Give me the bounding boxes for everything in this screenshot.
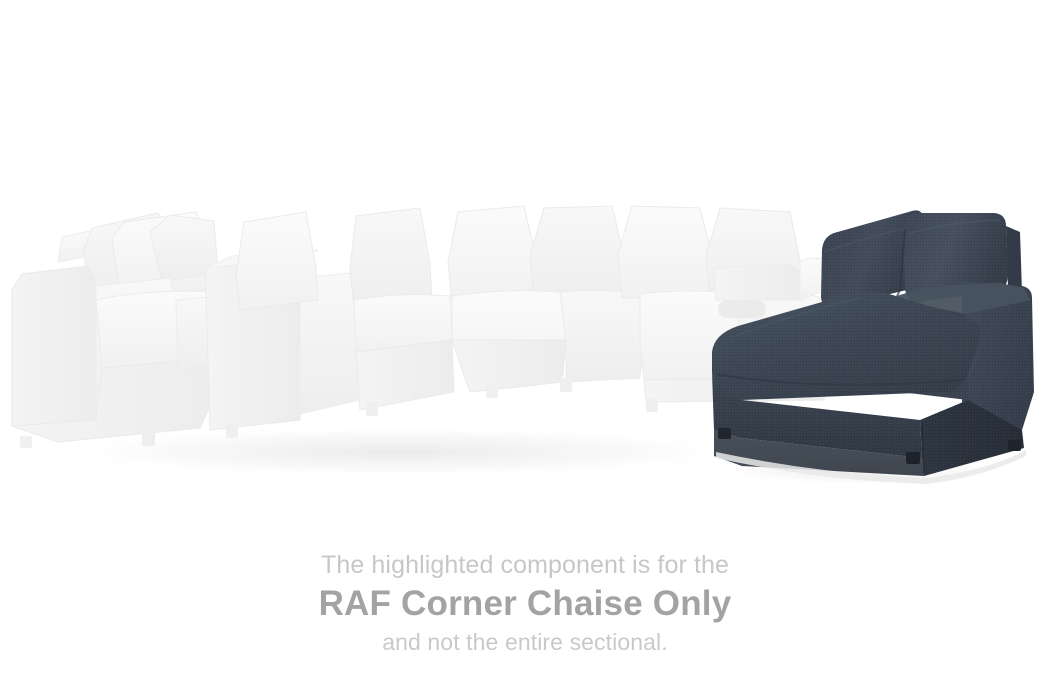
sectional-sofa-diagram [0, 0, 1050, 520]
chaise-back-rail [1006, 226, 1022, 292]
caption-line-intro: The highlighted component is for the [0, 548, 1050, 582]
caption-line-component-name: RAF Corner Chaise Only [0, 582, 1050, 626]
caption-block: The highlighted component is for the RAF… [0, 548, 1050, 658]
product-illustration [0, 0, 1050, 520]
ghost-corner-wedge [448, 206, 644, 398]
chaise-leg [718, 428, 731, 439]
chaise-leg [906, 452, 920, 464]
ghost-laf-loveseat [12, 212, 230, 448]
cupholder-icon [718, 300, 766, 318]
product-highlight-page: The highlighted component is for the RAF… [0, 0, 1050, 700]
chaise-leg [1008, 440, 1021, 451]
caption-line-disclaimer: and not the entire sectional. [0, 626, 1050, 658]
